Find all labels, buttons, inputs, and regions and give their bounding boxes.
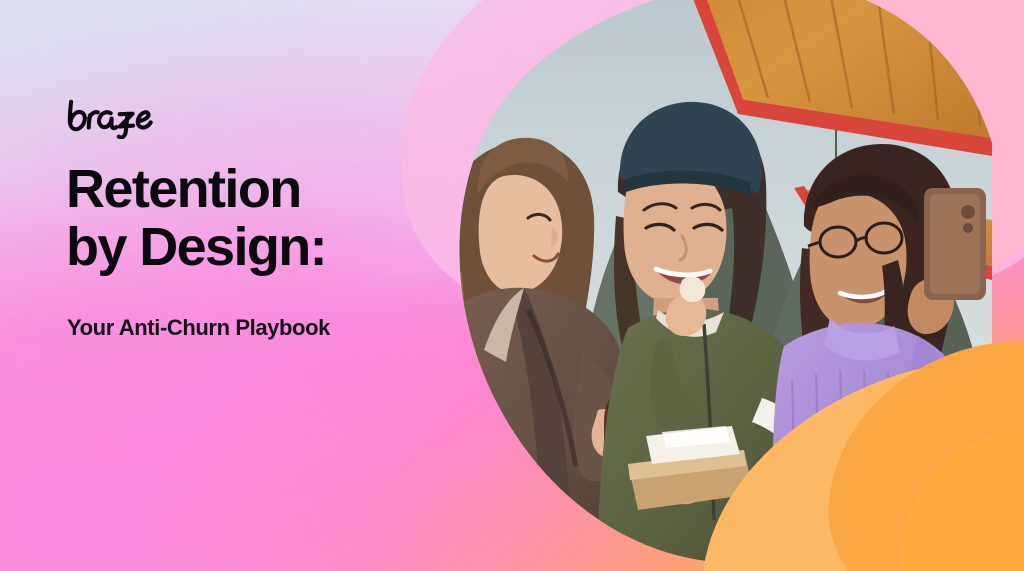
mobile-phone: [924, 188, 986, 300]
slide-canvas: Retention by Design: Your Anti-Churn Pla…: [0, 0, 1024, 571]
page-subtitle: Your Anti-Churn Playbook: [67, 314, 330, 342]
braze-wordmark-icon: [66, 98, 162, 139]
braze-logo[interactable]: [66, 98, 162, 142]
text-content: Retention by Design: Your Anti-Churn Pla…: [66, 0, 446, 571]
page-title: Retention by Design:: [66, 160, 466, 277]
